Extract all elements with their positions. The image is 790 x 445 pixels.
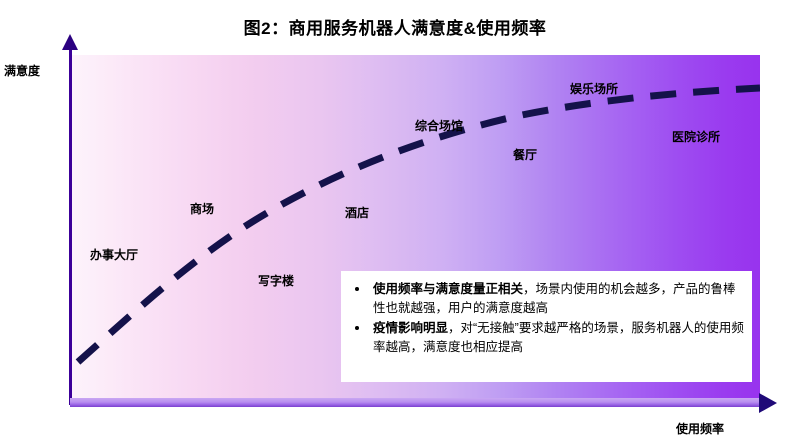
list-item: 疫情影响明显，对“无接触”要求越严格的场景，服务机器人的使用频率越高，满意度也相…	[351, 319, 744, 357]
page-title: 图2：商用服务机器人满意度&使用频率	[0, 14, 790, 39]
point-label-xiezilou: 写字楼	[258, 272, 294, 289]
point-label-banshidating: 办事大厅	[90, 246, 138, 263]
bullet-dot-icon	[355, 326, 359, 330]
insight-callout-box: 使用频率与满意度量正相关，场景内使用的机会越多，产品的鲁棒性也就越强，用户的满意…	[341, 271, 752, 382]
bullet-dot-icon	[355, 287, 359, 291]
insight-lead-text: 使用频率与满意度量正相关	[373, 282, 523, 296]
point-label-canting: 餐厅	[513, 146, 537, 163]
point-label-yiyuanzhensuo: 医院诊所	[672, 128, 720, 145]
point-label-jiudian: 酒店	[345, 204, 369, 221]
y-axis-arrow-icon	[62, 34, 78, 50]
list-item: 使用频率与满意度量正相关，场景内使用的机会越多，产品的鲁棒性也就越强，用户的满意…	[351, 280, 744, 318]
x-axis-line	[70, 398, 762, 407]
y-axis-label: 满意度	[4, 62, 40, 79]
insight-lead-text: 疫情影响明显	[373, 321, 448, 335]
chart-figure: 图2：商用服务机器人满意度&使用频率 满意度 使用频率 办事大厅 商场 写字楼 …	[0, 0, 790, 445]
x-axis-label: 使用频率	[676, 420, 724, 437]
insight-list: 使用频率与满意度量正相关，场景内使用的机会越多，产品的鲁棒性也就越强，用户的满意…	[341, 271, 752, 357]
point-label-zongheguan: 综合场馆	[415, 117, 463, 134]
point-label-shangchang: 商场	[190, 200, 214, 217]
y-axis-line	[69, 48, 72, 405]
x-axis-arrow-icon	[759, 393, 777, 413]
point-label-yulechangsuo: 娱乐场所	[570, 80, 618, 97]
